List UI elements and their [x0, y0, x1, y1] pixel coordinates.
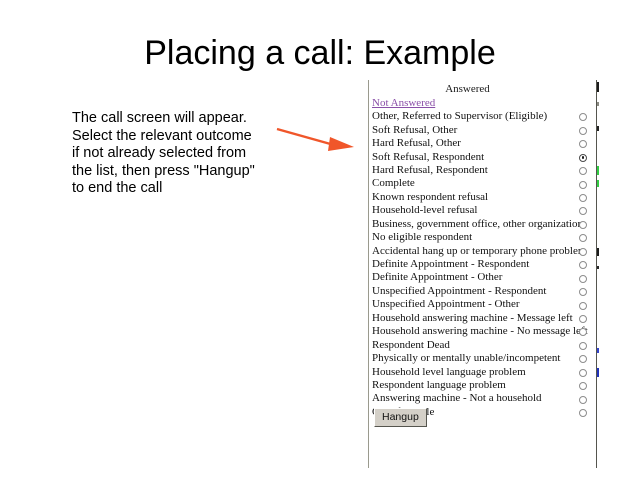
outcome-row[interactable]: Hard Refusal, Other [369, 137, 596, 150]
caption-line-5: to end the call [72, 180, 282, 198]
outcome-row[interactable]: Definite Appointment - Other [369, 271, 596, 284]
outcome-label: Unspecified Appointment - Other [372, 298, 520, 311]
hangup-button[interactable]: Hangup [374, 408, 427, 427]
outcome-radio-button[interactable] [579, 409, 587, 417]
outcome-row[interactable]: Household level language problem [369, 366, 596, 379]
outcome-row[interactable]: Respondent language problem [369, 379, 596, 392]
outcome-row[interactable]: Definite Appointment - Respondent [369, 258, 596, 271]
outcome-radio-button[interactable] [579, 396, 587, 404]
outcome-radio-button[interactable] [579, 194, 587, 202]
edge-fragment [597, 166, 599, 175]
outcome-option-list: Other, Referred to Supervisor (Eligible)… [369, 110, 596, 419]
outcome-radio-button[interactable] [579, 154, 587, 162]
outcome-label: Hard Refusal, Other [372, 137, 461, 150]
edge-fragment [597, 248, 599, 256]
outcome-radio-button[interactable] [579, 207, 587, 215]
edge-fragment [597, 102, 599, 106]
edge-fragment [597, 348, 599, 353]
outcome-row[interactable]: Unspecified Appointment - Respondent [369, 285, 596, 298]
edge-fragment [597, 266, 599, 269]
outcome-row[interactable]: Complete [369, 177, 596, 190]
outcome-label: Respondent Dead [372, 339, 450, 352]
capture-edge-strip [597, 80, 600, 468]
caption-line-4: the list, then press "Hangup" [72, 163, 282, 181]
outcome-label: Business, government office, other organ… [372, 218, 583, 231]
outcome-radio-button[interactable] [579, 302, 587, 310]
outcome-radio-button[interactable] [579, 382, 587, 390]
outcome-label: Soft Refusal, Other [372, 124, 457, 137]
outcome-label: Answering machine - Not a household [372, 392, 542, 405]
outcome-row[interactable]: Answering machine - Not a household [369, 392, 596, 405]
edge-fragment [597, 82, 599, 92]
outcome-label: Household answering machine - Message le… [372, 312, 573, 325]
outcome-row[interactable]: No eligible respondent [369, 231, 596, 244]
outcome-row[interactable]: Household answering machine - Message le… [369, 312, 596, 325]
outcome-label: Accidental hang up or temporary phone pr… [372, 245, 586, 258]
outcome-row[interactable]: Physically or mentally unable/incompeten… [369, 352, 596, 365]
outcome-radio-button[interactable] [579, 288, 587, 296]
outcome-radio-button[interactable] [579, 261, 587, 269]
outcome-row[interactable]: Known respondent refusal [369, 191, 596, 204]
call-screen-screenshot: Answered Not Answered Other, Referred to… [368, 80, 597, 468]
outcome-row[interactable]: Business, government office, other organ… [369, 218, 596, 231]
outcome-label: Definite Appointment - Respondent [372, 258, 529, 271]
outcome-label: Household level language problem [372, 366, 526, 379]
outcome-label: Known respondent refusal [372, 191, 488, 204]
outcome-label: Hard Refusal, Respondent [372, 164, 488, 177]
not-answered-link[interactable]: Not Answered [372, 97, 435, 110]
outcome-row[interactable]: Respondent Dead [369, 339, 596, 352]
outcome-radio-button[interactable] [579, 140, 587, 148]
answered-section-header: Answered [369, 80, 596, 96]
outcome-radio-button[interactable] [579, 248, 587, 256]
outcome-label: Definite Appointment - Other [372, 271, 502, 284]
caption-line-3: if not already selected from [72, 145, 282, 163]
caption-line-1: The call screen will appear. [72, 110, 282, 128]
outcome-label: Physically or mentally unable/incompeten… [372, 352, 560, 365]
outcome-radio-button[interactable] [579, 113, 587, 121]
outcome-row[interactable]: Soft Refusal, Respondent [369, 151, 596, 164]
caption-line-2: Select the relevant outcome [72, 128, 282, 146]
outcome-label: Household-level refusal [372, 204, 477, 217]
outcome-radio-button[interactable] [579, 127, 587, 135]
outcome-row[interactable]: Unspecified Appointment - Other [369, 298, 596, 311]
page-title: Placing a call: Example [0, 34, 640, 73]
arrow-pointing-right-icon [272, 120, 358, 156]
outcome-radio-button[interactable] [579, 167, 587, 175]
outcome-label: Respondent language problem [372, 379, 506, 392]
edge-fragment [597, 126, 599, 131]
outcome-label: Complete [372, 177, 415, 190]
outcome-row[interactable]: Household answering machine - No message… [369, 325, 596, 338]
outcome-radio-button[interactable] [579, 275, 587, 283]
outcome-radio-button[interactable] [579, 315, 587, 323]
outcome-radio-button[interactable] [579, 355, 587, 363]
outcome-label: Soft Refusal, Respondent [372, 151, 484, 164]
outcome-radio-button[interactable] [579, 342, 587, 350]
call-outcome-form: Answered Not Answered Other, Referred to… [369, 80, 596, 419]
outcome-label: Other, Referred to Supervisor (Eligible) [372, 110, 547, 123]
outcome-radio-button[interactable] [579, 369, 587, 377]
outcome-radio-button[interactable] [579, 234, 587, 242]
edge-fragment [597, 368, 599, 377]
outcome-row[interactable]: Other, Referred to Supervisor (Eligible) [369, 110, 596, 123]
outcome-label: No eligible respondent [372, 231, 472, 244]
outcome-label: Unspecified Appointment - Respondent [372, 285, 546, 298]
instruction-caption: The call screen will appear. Select the … [72, 110, 282, 198]
outcome-radio-button[interactable] [579, 181, 587, 189]
outcome-label: Household answering machine - No message… [372, 325, 588, 338]
edge-fragment [597, 180, 599, 187]
outcome-row[interactable]: Household-level refusal [369, 204, 596, 217]
outcome-row[interactable]: Hard Refusal, Respondent [369, 164, 596, 177]
outcome-radio-button[interactable] [579, 221, 587, 229]
outcome-row[interactable]: Accidental hang up or temporary phone pr… [369, 245, 596, 258]
outcome-row[interactable]: Soft Refusal, Other [369, 124, 596, 137]
